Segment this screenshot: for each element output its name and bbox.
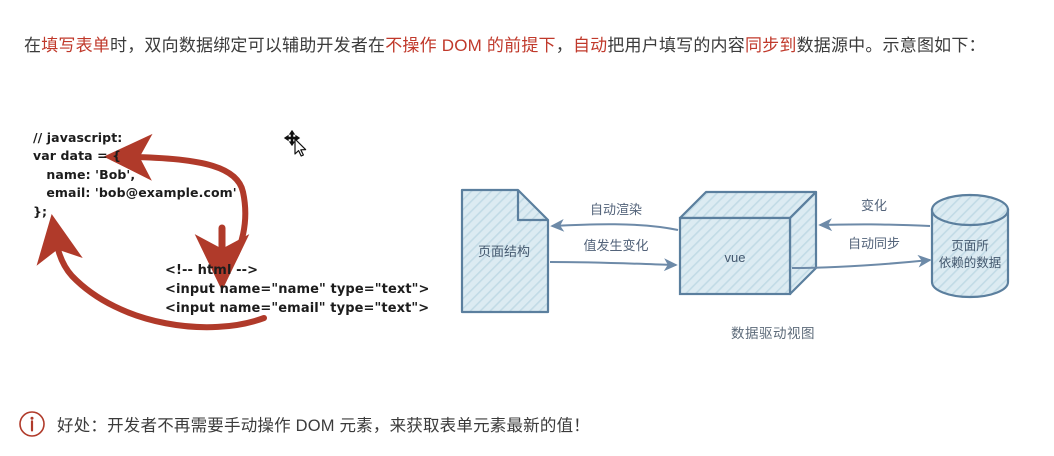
intro-segment-1: 填写表单 (41, 36, 110, 55)
node-page-data-store-label-1: 页面所 (951, 239, 989, 253)
edge-auto-render-label: 自动渲染 (590, 202, 642, 217)
intro-segment-7: 同步到 (745, 36, 797, 55)
benefit-note: 好处：开发者不再需要手动操作 DOM 元素，来获取表单元素最新的值！ (18, 404, 1028, 444)
intro-segment-5: 自动 (573, 36, 607, 55)
javascript-code-block: // javascript: var data = { name: 'Bob',… (33, 129, 237, 222)
edge-change (820, 224, 930, 226)
node-page-structure: 页面结构 (462, 190, 548, 312)
diagram-caption-text: 数据驱动视图 (731, 322, 815, 342)
intro-segment-3: 不操作 DOM 的前提下 (385, 36, 556, 55)
html-code-block: <!-- html --> <input name="name" type="t… (165, 261, 430, 318)
edge-auto-sync-label: 自动同步 (848, 236, 900, 251)
move-cursor-icon (283, 128, 313, 158)
benefit-note-text: 好处：开发者不再需要手动操作 DOM 元素，来获取表单元素最新的值！ (57, 412, 590, 436)
node-vue: vue (680, 192, 816, 294)
intro-segment-2: 时，双向数据绑定可以辅助开发者在 (110, 36, 385, 55)
intro-segment-0: 在 (24, 36, 41, 55)
node-page-data-store-label-2: 依赖的数据 (939, 255, 1002, 270)
intro-segment-4: ， (556, 36, 573, 55)
intro-segment-6: 把用户填写的内容 (607, 36, 745, 55)
node-page-structure-label: 页面结构 (478, 244, 530, 259)
intro-paragraph: 在填写表单时，双向数据绑定可以辅助开发者在不操作 DOM 的前提下，自动把用户填… (24, 27, 1036, 65)
code-annotation-figure: // javascript: var data = { name: 'Bob',… (0, 100, 460, 340)
diagram-caption: 数据驱动视图 (440, 322, 1054, 342)
node-vue-label: vue (725, 250, 746, 265)
node-page-data-store: 页面所 依赖的数据 (932, 195, 1008, 297)
edge-auto-render (552, 224, 678, 230)
intro-segment-8: 数据源中。示意图如下： (797, 36, 986, 55)
edge-value-change-label: 值发生变化 (583, 238, 648, 253)
article-page: 在填写表单时，双向数据绑定可以辅助开发者在不操作 DOM 的前提下，自动把用户填… (0, 0, 1054, 456)
info-circle-icon (18, 410, 46, 438)
edge-value-change (550, 262, 676, 265)
edge-change-label: 变化 (861, 198, 887, 213)
